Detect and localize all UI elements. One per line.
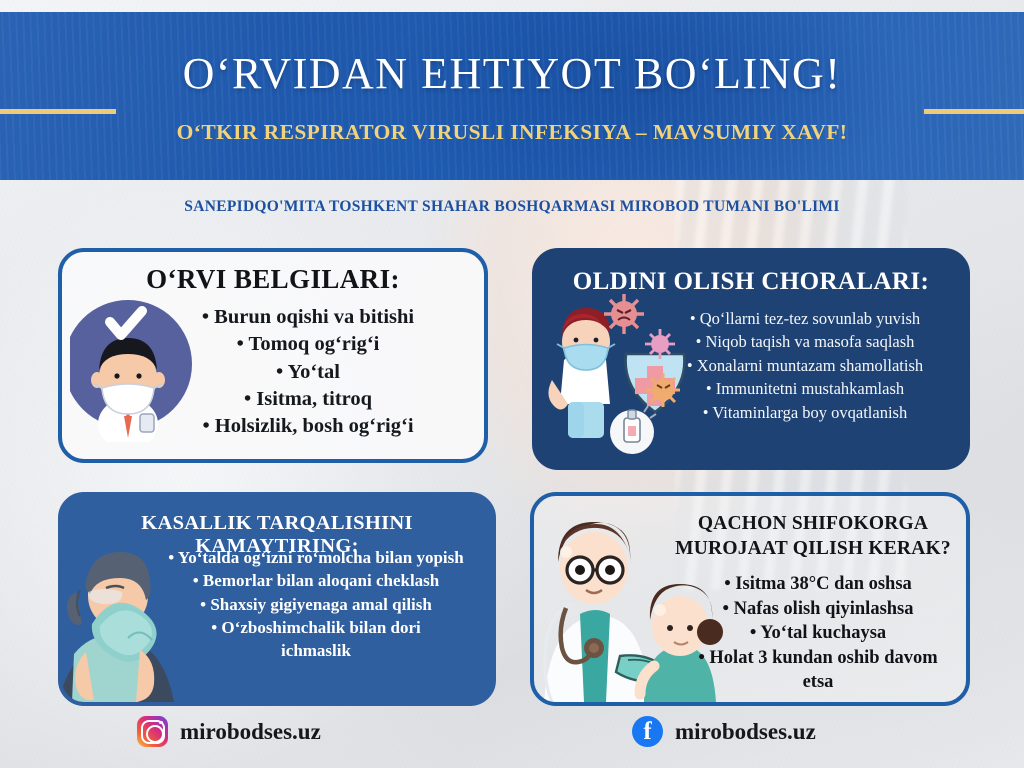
list-item: • Yo‘talda og‘izni ro‘molcha bilan yopis… xyxy=(166,546,466,569)
card-see-doctor: QACHON SHIFOKORGA MUROJAAT QILISH KERAK?… xyxy=(530,492,970,706)
list-item: • Bemorlar bilan aloqani cheklash xyxy=(150,569,482,592)
list-item: • Nafas olish qiyinlashsa xyxy=(684,597,952,622)
card-symptoms-title: O‘RVI BELGILARI: xyxy=(62,264,484,295)
list-item: • Immunitetni mustahkamlash xyxy=(654,377,956,400)
poster-canvas: O‘RVIDAN EHTIYOT BO‘LING! O‘TKIR RESPIRA… xyxy=(0,0,1024,768)
card-reduce-spread: KASALLIK TARQALISHINI KAMAYTIRING: • Yo‘… xyxy=(58,492,496,706)
list-item: • Vitaminlarga boy ovqatlanish xyxy=(654,401,956,424)
facebook-handle[interactable]: mirobodses.uz xyxy=(675,719,816,745)
card-prevention: OLDINI OLISH CHORALARI: • Qo‘llarni tez-… xyxy=(532,248,970,470)
social-link-instagram[interactable]: mirobodses.uz xyxy=(137,716,321,747)
list-item: • Isitma, titroq xyxy=(140,386,476,413)
poster-title: O‘RVIDAN EHTIYOT BO‘LING! xyxy=(0,48,1024,99)
list-item: • Yo‘tal xyxy=(140,359,476,386)
card-prevention-list: • Qo‘llarni tez-tez sovunlab yuvish • Ni… xyxy=(654,307,956,424)
card-prevention-title: OLDINI OLISH CHORALARI: xyxy=(536,268,966,296)
organization-line: SANEPIDQO'MITA TOSHKENT SHAHAR BOSHQARMA… xyxy=(0,198,1024,216)
gold-accent-rule-left xyxy=(0,109,116,114)
list-item: • Shaxsiy gigiyenaga amal qilish xyxy=(150,593,482,616)
facebook-glyph: f xyxy=(632,719,663,744)
card-see-doctor-title: QACHON SHIFOKORGA MUROJAAT QILISH KERAK? xyxy=(674,512,952,561)
social-link-facebook[interactable]: f mirobodses.uz xyxy=(632,716,816,747)
list-item: • Tomoq og‘rig‘i xyxy=(140,331,476,358)
list-item: • O‘zboshimchalik bilan dori ichmaslik xyxy=(176,616,456,663)
card-see-doctor-list: • Isitma 38°C dan oshsa • Nafas olish qi… xyxy=(684,572,952,695)
list-item: • Yo‘tal kuchaysa xyxy=(684,621,952,646)
list-item: • Holsizlik, bosh og‘rig‘i xyxy=(140,413,476,440)
card-symptoms-list: • Burun oqishi va bitishi • Tomoq og‘rig… xyxy=(140,304,476,440)
list-item: • Xonalarni muntazam shamollatish xyxy=(670,354,940,377)
list-item: • Qo‘llarni tez-tez sovunlab yuvish xyxy=(654,307,956,330)
list-item: • Burun oqishi va bitishi xyxy=(140,304,476,331)
instagram-handle[interactable]: mirobodses.uz xyxy=(180,719,321,745)
card-symptoms: O‘RVI BELGILARI: • Burun oqishi va bitis… xyxy=(58,248,488,463)
list-item: • Isitma 38°C dan oshsa xyxy=(684,572,952,597)
poster-subtitle: O‘TKIR RESPIRATOR VIRUSLI INFEKSIYA – MA… xyxy=(0,120,1024,145)
list-item: • Holat 3 kundan oshib davom etsa xyxy=(693,646,943,695)
card-reduce-spread-list: • Yo‘talda og‘izni ro‘molcha bilan yopis… xyxy=(150,546,482,662)
facebook-icon[interactable]: f xyxy=(632,716,663,747)
list-item: • Niqob taqish va masofa saqlash xyxy=(654,330,956,353)
instagram-icon[interactable] xyxy=(137,716,168,747)
gold-accent-rule-right xyxy=(924,109,1024,114)
